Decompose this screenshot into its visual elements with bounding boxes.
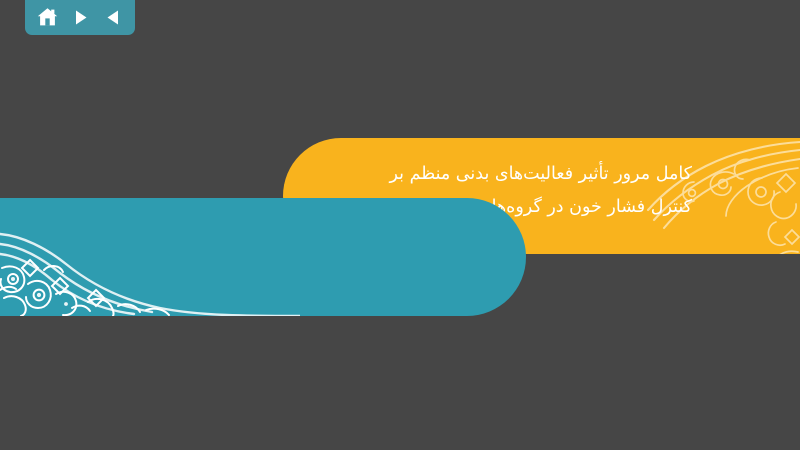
next-slide-button[interactable]: [69, 6, 91, 28]
triangle-left-icon: [105, 9, 122, 26]
slide-navigation-bar: [25, 0, 135, 35]
arabesque-ornament-bottom-left: [0, 198, 300, 316]
triangle-right-icon: [72, 9, 89, 26]
accent-band: [0, 198, 526, 316]
previous-slide-button[interactable]: [102, 6, 124, 28]
title-line-1: کامل مرور تأثیر فعالیت‌های بدنی منظم بر: [322, 158, 692, 191]
slide-canvas: کامل مرور تأثیر فعالیت‌های بدنی منظم بر …: [0, 0, 800, 450]
home-button[interactable]: [36, 6, 58, 28]
home-icon: [37, 7, 58, 27]
